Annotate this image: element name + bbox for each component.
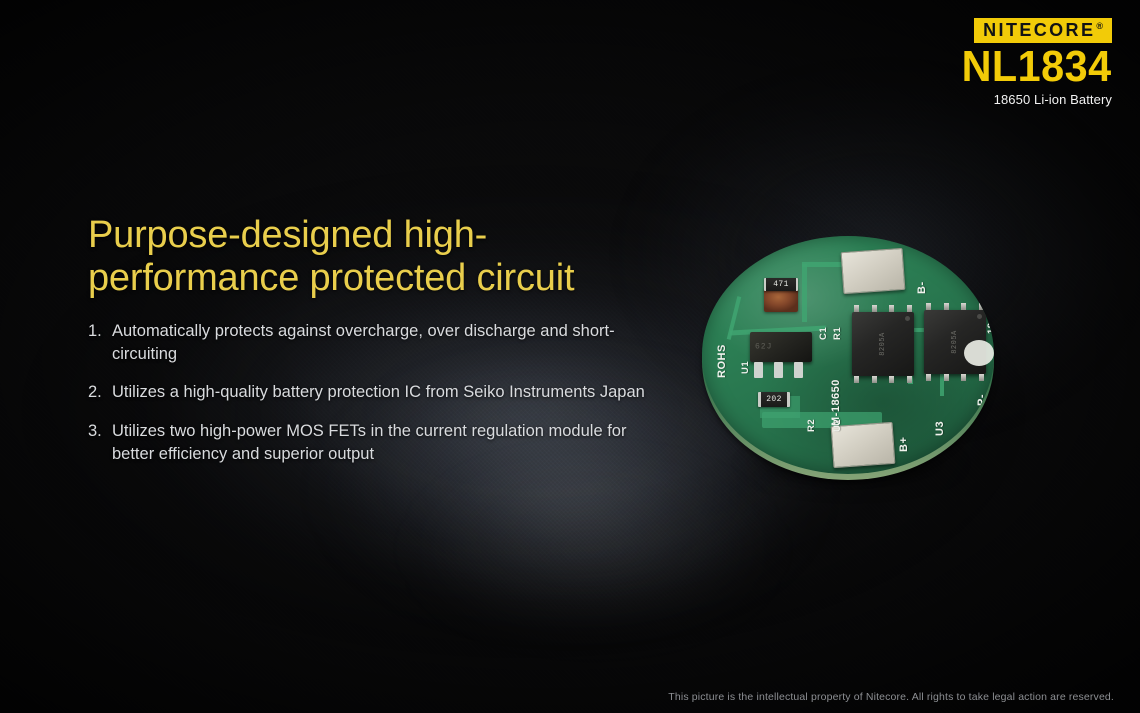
transistor-code: 62J [755, 343, 772, 352]
silkscreen-r2: R2 [806, 419, 817, 432]
inductor-code-label: 471 [764, 278, 798, 291]
list-item-text: Utilizes a high-quality battery protecti… [112, 381, 648, 404]
legal-notice: This picture is the intellectual propert… [668, 691, 1114, 703]
poster-canvas: NITECORE® NL1834 18650 Li-ion Battery Pu… [0, 0, 1140, 713]
mosfet-leads-top [926, 303, 984, 310]
headline: Purpose-designed high-performance protec… [88, 214, 648, 300]
pcb-photo: 471 62J 202 8205A [700, 228, 1000, 496]
silkscreen-edge-number: 18 [986, 322, 994, 334]
silkscreen-r1: R1 [832, 327, 843, 340]
pcb-board-face: 471 62J 202 8205A [702, 236, 994, 474]
pcb-pad [774, 362, 783, 378]
silkscreen-p-minus: P- [976, 394, 988, 406]
silkscreen-u3: U3 [934, 421, 946, 436]
list-item: 2. Utilizes a high-quality battery prote… [88, 381, 648, 404]
resistor-code: 202 [766, 395, 782, 404]
silkscreen-c1: C1 [818, 327, 829, 340]
brand-block: NITECORE® NL1834 18650 Li-ion Battery [952, 18, 1112, 107]
inductor-code: 471 [773, 280, 789, 289]
nitecore-logo-text: NITECORE [983, 21, 1095, 39]
product-subtitle: 18650 Li-ion Battery [952, 92, 1112, 107]
silkscreen-rohs: ROHS [716, 344, 728, 378]
mosfet-u2-code: 8205A [879, 313, 887, 375]
silkscreen-b-plus: B+ [898, 437, 910, 452]
list-item: 3. Utilizes two high-power MOS FETs in t… [88, 420, 648, 466]
solder-mask-dot [964, 340, 994, 366]
pcb-trace [802, 264, 807, 322]
copy-block: Purpose-designed high-performance protec… [88, 214, 648, 482]
resistor-r2: 202 [758, 392, 790, 407]
capacitor-top [841, 248, 906, 294]
silkscreen-b-minus: B- [916, 281, 928, 294]
mosfet-u3-code: 8205A [951, 311, 959, 373]
mosfet-pin1-marker [905, 316, 910, 321]
list-item-text: Utilizes two high-power MOS FETs in the … [112, 420, 648, 466]
pcb-pad [754, 362, 763, 378]
nitecore-logo: NITECORE® [974, 18, 1112, 43]
silkscreen-u2: U2 [832, 419, 843, 432]
silkscreen-u1: U1 [740, 361, 751, 374]
pcb-pad [794, 362, 803, 378]
mosfet-leads-bottom [854, 376, 912, 383]
list-item: 1. Automatically protects against overch… [88, 320, 648, 366]
mosfet-pin1-marker [977, 314, 982, 319]
list-item-text: Automatically protects against overcharg… [112, 320, 648, 366]
inductor [764, 288, 798, 312]
mosfet-u2: 8205A [852, 312, 914, 376]
feature-list: 1. Automatically protects against overch… [88, 320, 648, 466]
list-item-number: 1. [88, 320, 112, 343]
transistor-u1: 62J [750, 332, 812, 362]
registered-trademark-icon: ® [1096, 22, 1103, 31]
list-item-number: 3. [88, 420, 112, 443]
mosfet-leads-top [854, 305, 912, 312]
mosfet-leads-bottom [926, 374, 984, 381]
list-item-number: 2. [88, 381, 112, 404]
product-model-number: NL1834 [962, 46, 1112, 88]
